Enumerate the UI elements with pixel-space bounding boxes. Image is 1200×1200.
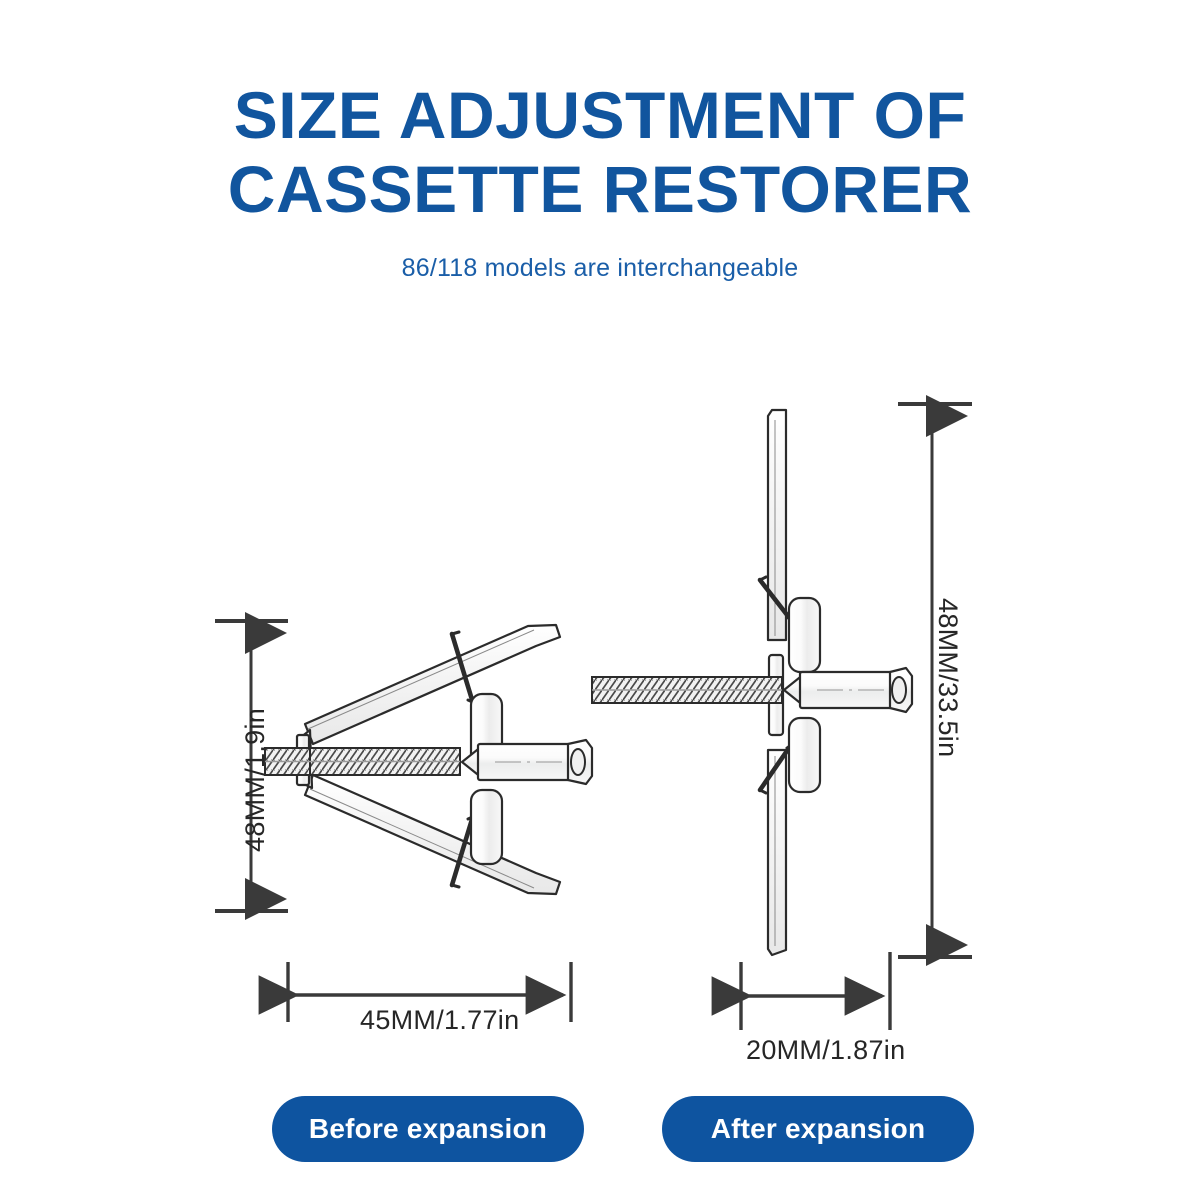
wing-arm-upper-left: [305, 625, 560, 744]
pivot-bracket-right: [769, 655, 783, 735]
page-title-line-1: SIZE ADJUSTMENT OF: [0, 78, 1200, 152]
page-title-line-2: CASSETTE RESTORER: [0, 152, 1200, 226]
spring-pin-lower-left: [452, 815, 477, 887]
dimension-left-width: [288, 962, 571, 1022]
spring-pin-upper-right: [760, 577, 795, 622]
wing-arm-lower-left: [305, 775, 560, 894]
spring-pin-upper-left: [452, 632, 477, 704]
nut-head-right: [890, 668, 912, 712]
dimension-left-height: [215, 621, 288, 911]
figure-left-toggle-bolt-collapsed: [215, 621, 592, 1022]
dimension-right-width: [741, 952, 890, 1030]
wing-arm-lower-right: [768, 750, 786, 955]
dimension-label-right-height: 48MM/33.5in: [932, 598, 963, 757]
screw-shaft-left: [265, 748, 460, 775]
spring-pin-lower-right: [760, 743, 795, 793]
sleeve-body-left: [462, 744, 570, 780]
nut-head-left: [568, 740, 592, 784]
sleeve-body-right: [784, 672, 892, 708]
figure-right-toggle-bolt-expanded: [592, 404, 972, 1030]
dimension-label-right-width: 20MM/1.87in: [746, 1035, 905, 1066]
dimension-label-left-width: 45MM/1.77in: [360, 1005, 519, 1036]
dimension-right-height: [898, 404, 972, 957]
toggle-plate-lower-right: [789, 718, 820, 792]
toggle-plate-lower-left: [471, 790, 502, 864]
toggle-plate-upper-right: [789, 598, 820, 672]
after-expansion-button[interactable]: After expansion: [662, 1096, 974, 1162]
header: SIZE ADJUSTMENT OF CASSETTE RESTORER 86/…: [0, 78, 1200, 284]
page-title: SIZE ADJUSTMENT OF CASSETTE RESTORER: [0, 78, 1200, 226]
screw-shaft-right: [592, 677, 782, 703]
infographic-page: SIZE ADJUSTMENT OF CASSETTE RESTORER 86/…: [0, 0, 1200, 1200]
page-subtitle: 86/118 models are interchangeable: [0, 252, 1200, 284]
pivot-bracket-left: [297, 730, 312, 788]
caption-button-row: Before expansion After expansion: [0, 1096, 1200, 1166]
before-expansion-button[interactable]: Before expansion: [272, 1096, 584, 1162]
toggle-plate-upper-left: [471, 694, 502, 768]
dimension-label-left-height: 48MM/1.9in: [240, 708, 271, 852]
wing-arm-upper-right: [768, 410, 786, 640]
